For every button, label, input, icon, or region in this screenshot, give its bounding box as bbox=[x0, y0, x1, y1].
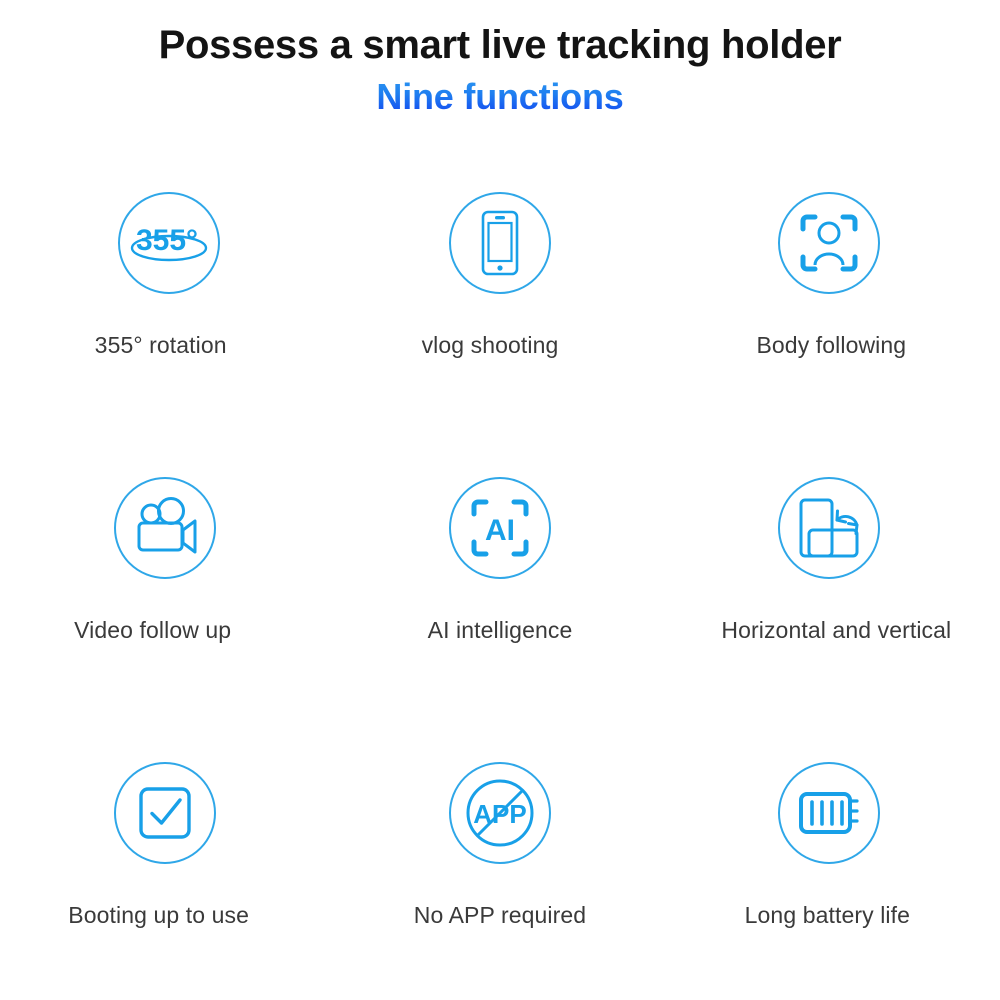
feature-item-body-following: Body following bbox=[667, 160, 1000, 445]
feature-label: Video follow up bbox=[74, 617, 231, 644]
ai-focus-frame-icon-text: AI bbox=[485, 514, 515, 547]
no-app-prohibited-icon: APP bbox=[448, 761, 552, 865]
feature-label: 355° rotation bbox=[95, 332, 227, 359]
page-title: Possess a smart live tracking holder bbox=[0, 22, 1000, 69]
rotation-355-icon: 355° bbox=[117, 191, 221, 295]
page-subtitle: Nine functions bbox=[0, 75, 1000, 118]
feature-label: Booting up to use bbox=[68, 902, 249, 929]
person-focus-frame-icon bbox=[777, 191, 881, 295]
screen-rotate-icon bbox=[777, 476, 881, 580]
feature-label: No APP required bbox=[414, 902, 586, 929]
smartphone-icon bbox=[448, 191, 552, 295]
feature-item-vlog-shooting: vlog shooting bbox=[333, 160, 666, 445]
feature-label: AI intelligence bbox=[428, 617, 573, 644]
battery-full-icon bbox=[777, 761, 881, 865]
rotation-355-icon-text: 355° bbox=[136, 224, 198, 257]
feature-item-long-battery-life: Long battery life bbox=[667, 730, 1000, 1000]
features-grid: 355° 355° rotation vlog shooting bbox=[0, 160, 1000, 1000]
page-header: Possess a smart live tracking holder Nin… bbox=[0, 0, 1000, 118]
feature-item-355-rotation: 355° 355° rotation bbox=[0, 160, 333, 445]
feature-item-no-app-required: APP No APP required bbox=[333, 730, 666, 1000]
movie-camera-icon bbox=[113, 476, 217, 580]
feature-item-video-follow-up: Video follow up bbox=[0, 445, 333, 730]
feature-grid-page: Possess a smart live tracking holder Nin… bbox=[0, 0, 1000, 1000]
feature-item-horizontal-and-vertical: Horizontal and vertical bbox=[667, 445, 1000, 730]
feature-label: Horizontal and vertical bbox=[721, 617, 951, 644]
feature-item-booting-up-to-use: Booting up to use bbox=[0, 730, 333, 1000]
feature-item-ai-intelligence: AI AI intelligence bbox=[333, 445, 666, 730]
feature-label: Body following bbox=[756, 332, 906, 359]
feature-label: vlog shooting bbox=[422, 332, 559, 359]
ai-focus-frame-icon: AI bbox=[448, 476, 552, 580]
checkbox-check-icon bbox=[113, 761, 217, 865]
feature-label: Long battery life bbox=[745, 902, 910, 929]
